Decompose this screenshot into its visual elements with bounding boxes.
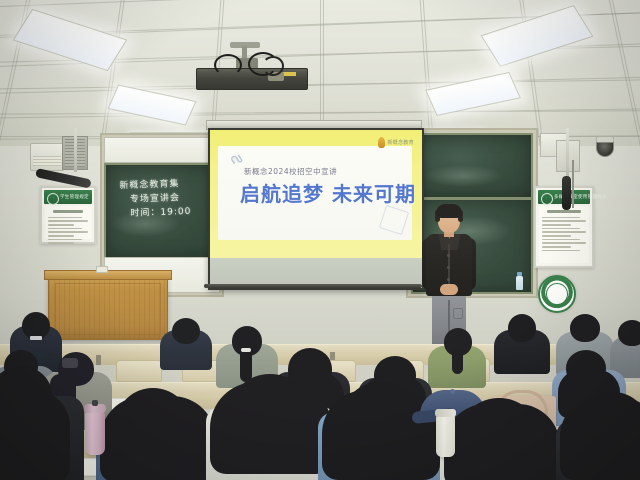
audience-head	[172, 318, 200, 344]
audience-ponytail	[240, 348, 252, 382]
audience-hair	[0, 390, 70, 480]
cap-button	[450, 389, 455, 394]
notice-body-right	[539, 206, 589, 263]
chalk-line-3: 时间：19:00	[120, 206, 191, 221]
slide-logo-mark	[378, 137, 385, 148]
notice-board-left: 学生管理规定	[40, 186, 96, 244]
podium-top	[44, 270, 172, 280]
seat-back	[116, 360, 162, 382]
chalkboard-handwriting: 新概念教育集 专场宣讲会 时间：19:00	[119, 178, 191, 222]
chalkboard-left: 新概念教育集 专场宣讲会 时间：19:00	[104, 163, 222, 259]
hair-clip-icon	[62, 358, 78, 368]
tumbler-lid	[435, 409, 456, 417]
microphone-right	[562, 176, 571, 210]
presenter-hair	[436, 204, 462, 218]
audience-hair	[444, 404, 560, 480]
antenna-left	[74, 128, 77, 172]
projection-screen: 新概念教育 新概念2024校招空中宣讲 启航追梦 未来可期	[208, 128, 424, 290]
notice-header-text-left: 学生管理规定	[60, 194, 89, 200]
podium-item	[96, 266, 108, 273]
seal-icon	[47, 193, 59, 205]
audience-head	[570, 314, 600, 342]
antenna-right	[566, 128, 569, 180]
chalk-line-2: 专场宣讲会	[120, 192, 191, 207]
presenter-hands	[440, 284, 458, 295]
hanging-cable	[572, 160, 574, 208]
white-tumbler	[436, 415, 455, 457]
pink-tumbler	[85, 411, 105, 455]
school-emblem	[538, 275, 576, 313]
chalk-line-1: 新概念教育集	[119, 178, 190, 193]
bottle-cap	[517, 272, 522, 276]
trouser-pocket	[453, 308, 463, 319]
wall-control-box-left	[30, 143, 64, 171]
slide-title: 启航追梦 未来可期	[240, 178, 416, 207]
projection-screen-weight-bar	[206, 284, 422, 288]
audience-head	[508, 314, 536, 342]
notice-header-left: 学生管理规定	[44, 190, 92, 204]
presenter	[418, 204, 480, 348]
water-bottle	[516, 276, 523, 290]
vent-grill	[33, 156, 61, 166]
chalkboard-right-upper	[411, 133, 533, 199]
podium-panel	[55, 283, 161, 335]
audience-hair	[210, 382, 332, 474]
seal-icon	[541, 193, 553, 205]
jacket-logo	[30, 336, 42, 340]
jacket-button	[447, 278, 450, 281]
slide-bottom-band	[210, 258, 422, 284]
slide-logo-text: 新概念教育	[387, 139, 414, 146]
emblem-inner-ring	[546, 283, 568, 305]
audience-ponytail	[452, 348, 463, 374]
audience-hair	[100, 396, 216, 480]
ceiling-projector	[196, 60, 306, 86]
jacket-button	[447, 266, 450, 269]
slide-logo: 新概念教育	[378, 136, 414, 148]
audience-head	[22, 312, 50, 339]
podium	[48, 276, 168, 340]
slide-subtitle: 新概念2024校招空中宣讲	[244, 166, 337, 177]
lecture-hall-photo: 新概念教育集 专场宣讲会 时间：19:00 新概念教育	[0, 0, 640, 480]
audience-head	[618, 320, 640, 346]
tumbler-button	[92, 400, 98, 406]
screen-bar-end	[204, 284, 208, 288]
notice-body-left	[45, 206, 91, 239]
audience-hair	[560, 398, 640, 480]
hair-tie	[241, 348, 251, 352]
desk-gap	[96, 355, 101, 365]
presentation-slide: 新概念教育 新概念2024校招空中宣讲 启航追梦 未来可期	[210, 130, 422, 258]
jacket-button	[447, 254, 450, 257]
